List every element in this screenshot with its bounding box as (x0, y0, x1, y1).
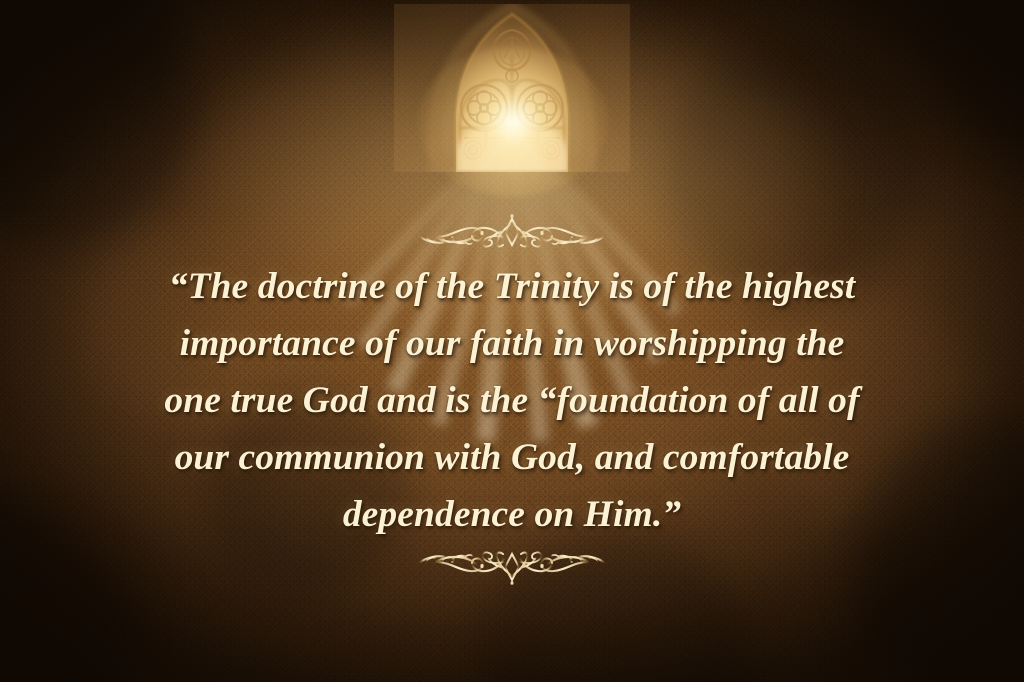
background-corner-shadow (0, 0, 1024, 682)
quote-poster: “The doctrine of the Trinity is of the h… (0, 0, 1024, 682)
